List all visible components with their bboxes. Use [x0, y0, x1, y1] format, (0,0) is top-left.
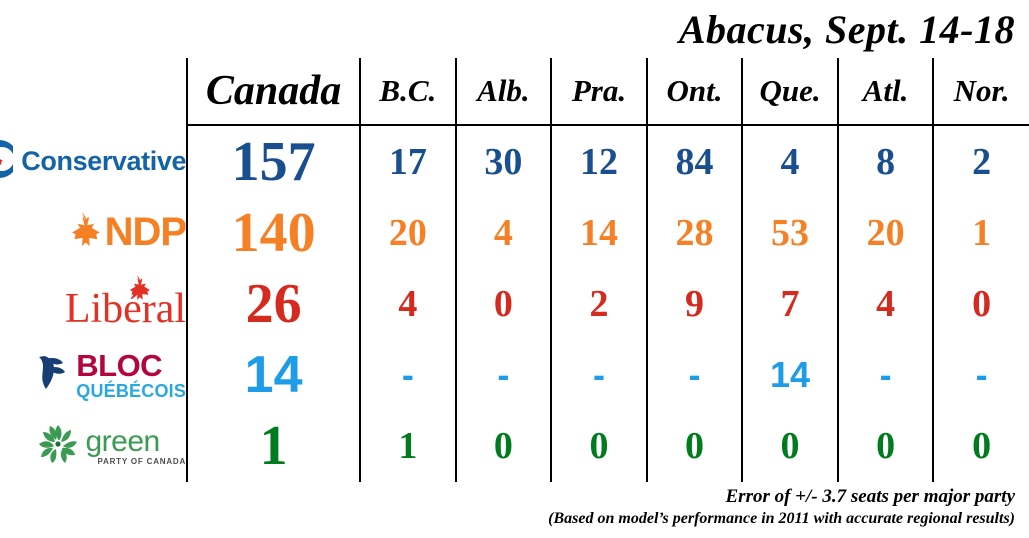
- cell-conservative-alb: 30: [456, 125, 552, 197]
- ndp-wordmark: NDP: [105, 210, 186, 255]
- cell-conservative-ont: 84: [647, 125, 743, 197]
- cell-ndp-bc: 20: [360, 197, 456, 268]
- cell-liberal-pra: 2: [551, 268, 647, 339]
- cell-green-canada: 1: [187, 411, 360, 482]
- cell-bloc-bc: -: [360, 340, 456, 411]
- cell-liberal-bc: 4: [360, 268, 456, 339]
- column-header-bc: B.C.: [360, 58, 456, 125]
- cell-liberal-atl: 4: [838, 268, 934, 339]
- footnotes: Error of +/- 3.7 seats per major party (…: [0, 486, 1029, 528]
- conservative-c-maple-leaf-icon: [0, 136, 18, 187]
- cell-green-pra: 0: [551, 411, 647, 482]
- party-logo-liberal: Libéral: [0, 268, 187, 339]
- column-header-canada: Canada: [187, 58, 360, 125]
- cell-ndp-canada: 140: [187, 197, 360, 268]
- cell-conservative-pra: 12: [551, 125, 647, 197]
- cell-ndp-ont: 28: [647, 197, 743, 268]
- cell-bloc-nor: -: [933, 340, 1029, 411]
- seat-projection-table-container: Canada B.C. Alb. Pra. Ont. Que. Atl. Nor…: [0, 58, 1029, 482]
- cell-bloc-pra: -: [551, 340, 647, 411]
- party-logo-ndp: NDP: [0, 197, 187, 268]
- cell-conservative-canada: 157: [187, 125, 360, 197]
- column-header-que: Que.: [742, 58, 838, 125]
- cell-bloc-ont: -: [647, 340, 743, 411]
- seat-projection-table: Canada B.C. Alb. Pra. Ont. Que. Atl. Nor…: [0, 58, 1029, 482]
- table-row: Conservative 157 17 30 12 84 4 8 2: [0, 125, 1029, 197]
- liberal-maple-leaf-icon: [122, 274, 152, 307]
- party-logo-bloc-quebecois: BLOC QUÉBÉCOIS: [0, 340, 187, 411]
- conservative-wordmark: Conservative: [21, 146, 186, 177]
- green-pinwheel-icon: [35, 421, 81, 472]
- cell-ndp-que: 53: [742, 197, 838, 268]
- cell-ndp-nor: 1: [933, 197, 1029, 268]
- table-header-row: Canada B.C. Alb. Pra. Ont. Que. Atl. Nor…: [0, 58, 1029, 125]
- table-row: BLOC QUÉBÉCOIS 14 - - - - 14 - -: [0, 340, 1029, 411]
- page-title: Abacus, Sept. 14-18: [679, 6, 1015, 53]
- table-row: green PARTY OF CANADA 1 1 0 0 0 0 0 0: [0, 411, 1029, 482]
- header-party-logo-spacer: [0, 58, 187, 125]
- column-header-nor: Nor.: [933, 58, 1029, 125]
- cell-liberal-que: 7: [742, 268, 838, 339]
- cell-ndp-alb: 4: [456, 197, 552, 268]
- cell-green-atl: 0: [838, 411, 934, 482]
- bloc-fleur-de-lis-icon: [30, 352, 72, 399]
- column-header-ont: Ont.: [647, 58, 743, 125]
- column-header-alb: Alb.: [456, 58, 552, 125]
- cell-bloc-que: 14: [742, 340, 838, 411]
- cell-liberal-ont: 9: [647, 268, 743, 339]
- green-wordmark-top: green: [85, 427, 159, 457]
- cell-green-que: 0: [742, 411, 838, 482]
- cell-conservative-nor: 2: [933, 125, 1029, 197]
- bloc-wordmark-bottom: QUÉBÉCOIS: [76, 382, 186, 400]
- table-row: NDP 140 20 4 14 28 53 20 1: [0, 197, 1029, 268]
- footnote-error-margin: Error of +/- 3.7 seats per major party: [0, 486, 1015, 508]
- cell-ndp-atl: 20: [838, 197, 934, 268]
- cell-green-ont: 0: [647, 411, 743, 482]
- cell-liberal-nor: 0: [933, 268, 1029, 339]
- party-logo-green: green PARTY OF CANADA: [0, 411, 187, 482]
- bloc-wordmark-top: BLOC: [76, 350, 162, 381]
- cell-bloc-atl: -: [838, 340, 934, 411]
- cell-conservative-bc: 17: [360, 125, 456, 197]
- cell-green-alb: 0: [456, 411, 552, 482]
- cell-liberal-alb: 0: [456, 268, 552, 339]
- cell-bloc-alb: -: [456, 340, 552, 411]
- column-header-pra: Pra.: [551, 58, 647, 125]
- cell-liberal-canada: 26: [187, 268, 360, 339]
- ndp-maple-leaf-icon: [61, 209, 103, 256]
- cell-bloc-canada: 14: [187, 340, 360, 411]
- footnote-model-basis: (Based on model’s performance in 2011 wi…: [0, 510, 1015, 528]
- title-bar: Abacus, Sept. 14-18: [0, 0, 1029, 58]
- green-wordmark-bottom: PARTY OF CANADA: [97, 458, 186, 466]
- column-header-atl: Atl.: [838, 58, 934, 125]
- cell-green-nor: 0: [933, 411, 1029, 482]
- cell-conservative-que: 4: [742, 125, 838, 197]
- party-logo-conservative: Conservative: [0, 125, 187, 197]
- cell-green-bc: 1: [360, 411, 456, 482]
- cell-ndp-pra: 14: [551, 197, 647, 268]
- cell-conservative-atl: 8: [838, 125, 934, 197]
- table-row: Libéral 26 4 0 2 9 7 4 0: [0, 268, 1029, 339]
